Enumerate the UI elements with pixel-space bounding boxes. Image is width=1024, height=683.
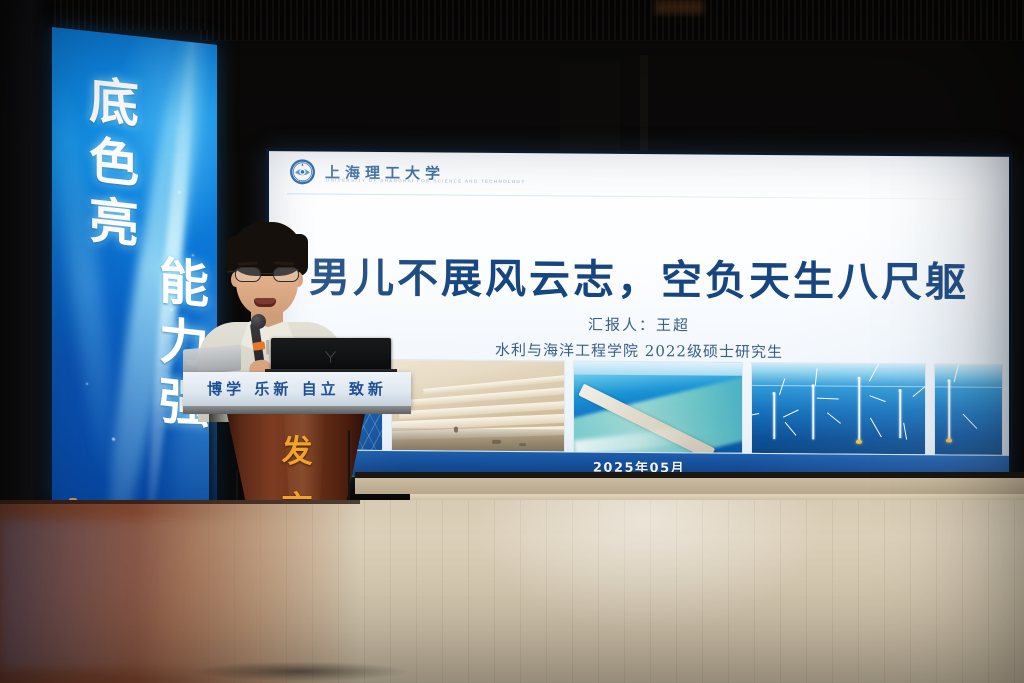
wind-turbine — [892, 390, 908, 438]
offshore-wind-photo-2 — [934, 363, 1003, 456]
podium-top-edge — [183, 406, 411, 414]
beach-object — [492, 440, 501, 444]
wind-turbine — [939, 380, 959, 440]
wind-turbine — [766, 393, 782, 439]
beach-object — [454, 427, 458, 433]
stage-riser — [355, 478, 1024, 494]
podium-top-panel: 博学 乐新 自立 致新 — [183, 372, 411, 408]
warm-light-spill — [655, 0, 703, 14]
slide-subtitle-presenter: 汇报人：王超 — [269, 311, 1009, 338]
led-sparkle — [178, 191, 181, 194]
legion-y-logo-icon — [323, 350, 338, 364]
microphone-head-icon — [251, 314, 266, 329]
offshore-wind-photo — [751, 362, 926, 455]
tidal-flat-photo — [391, 359, 565, 452]
floor-light-reflection — [480, 500, 900, 683]
stage-scene: 底色亮 能力强 — [0, 0, 1024, 683]
wet-sand-band — [392, 428, 564, 451]
podium-motto: 博学 乐新 自立 致新 — [183, 378, 411, 399]
causeway-sky — [574, 361, 742, 375]
slide-header: 1906 上海理工大学 UNIVERSITY OF SHANGHAI FOR S… — [269, 151, 1009, 199]
microphone-accent-ring — [253, 341, 266, 351]
led-sparkle — [192, 254, 194, 256]
causeway-aerial-photo — [573, 360, 743, 453]
ceiling-louvers — [200, 0, 1024, 40]
led-sparkle — [112, 438, 115, 441]
svg-text:1906: 1906 — [299, 179, 307, 183]
laptop-lid — [271, 338, 391, 370]
eyeglasses-icon — [233, 267, 301, 282]
presenter-mouth — [254, 298, 276, 307]
floor-left-reflection — [0, 520, 330, 670]
stage-curtain-left — [0, 0, 52, 520]
beach-object — [519, 443, 526, 446]
stage-floor — [0, 500, 1024, 683]
secondary-laptop[interactable] — [183, 344, 241, 375]
header-divider — [287, 193, 997, 200]
presenter-laptop[interactable] — [271, 338, 391, 374]
led-sparkle — [86, 383, 88, 385]
university-seal-icon: 1906 — [289, 158, 316, 185]
wind-turbine — [804, 385, 822, 439]
stage-edge — [0, 500, 360, 504]
led-banner-text-column-1: 底色亮 — [74, 71, 146, 259]
podium-floor-shadow — [150, 660, 450, 683]
wind-turbine — [848, 378, 870, 442]
slide-title: 男儿不展风云志，空负天生八尺躯 — [269, 243, 1009, 309]
